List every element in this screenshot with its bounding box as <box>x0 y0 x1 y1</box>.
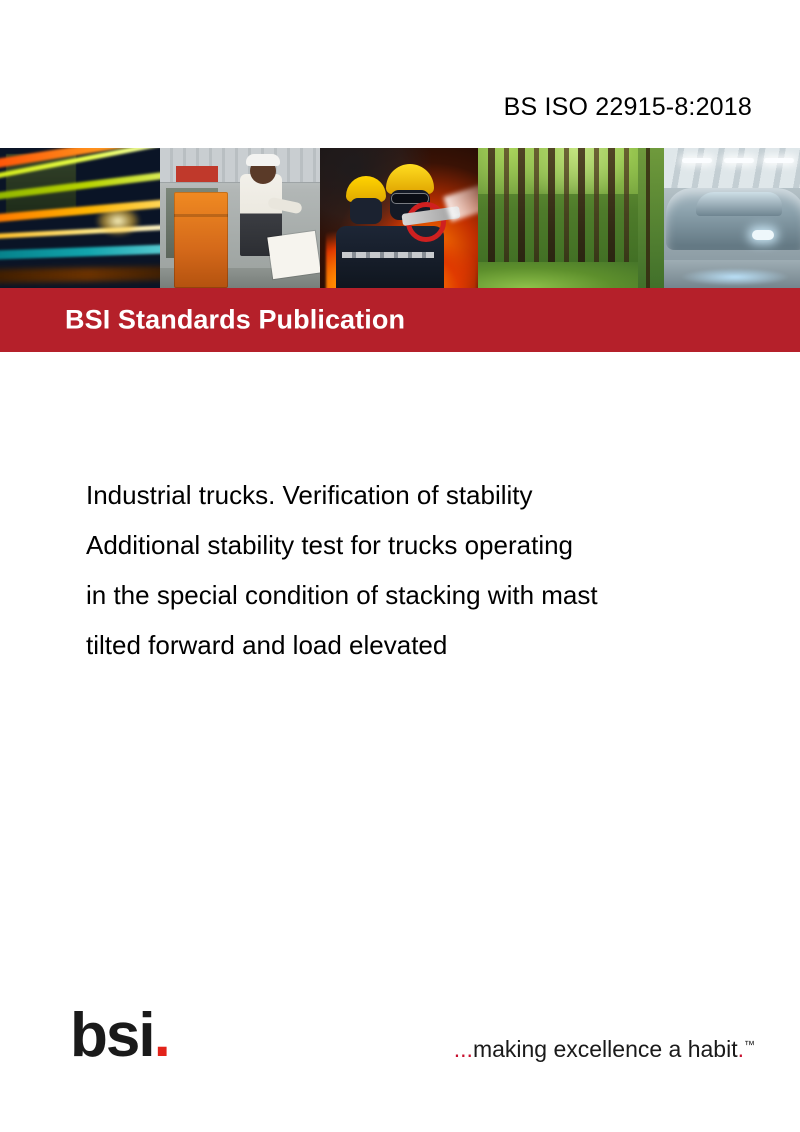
tree-trunk <box>624 148 629 270</box>
title-line: Additional stability test for trucks ope… <box>86 520 746 570</box>
publication-banner-label: BSI Standards Publication <box>65 305 405 336</box>
ceiling-lamp <box>682 158 712 163</box>
red-box-shape <box>176 166 218 182</box>
light-trail <box>0 243 160 261</box>
reflective-stripe <box>342 252 434 258</box>
car-headlamp <box>752 230 774 240</box>
bsi-tagline: ...making excellence a habit.™ <box>454 1036 755 1063</box>
cover-photo-strip <box>0 148 800 288</box>
title-line: Industrial trucks. Verification of stabi… <box>86 470 746 520</box>
ceiling-lamp <box>764 158 794 163</box>
ceiling-lamp <box>724 158 754 163</box>
bsi-logo: bsi. <box>70 1005 169 1067</box>
light-trail <box>0 265 160 284</box>
worker-cap <box>246 154 280 166</box>
document-cover-page: BS ISO 22915-8:2018 <box>0 0 800 1132</box>
page-title: Industrial trucks. Verification of stabi… <box>86 470 746 670</box>
title-line: tilted forward and load elevated <box>86 620 746 670</box>
tagline-ellipsis: ... <box>454 1036 473 1062</box>
headlight-glow <box>96 206 140 236</box>
car-windshield <box>696 192 782 216</box>
photo-panel-firefighters <box>320 148 478 288</box>
publication-banner: BSI Standards Publication <box>0 288 800 352</box>
water-jet <box>443 180 478 221</box>
orange-crate-shape <box>174 192 228 288</box>
title-line: in the special condition of stacking wit… <box>86 570 746 620</box>
factory-roof <box>664 148 800 188</box>
forest-undergrowth <box>478 262 638 288</box>
firefighter-face <box>350 198 382 224</box>
floor-light-reflection <box>680 268 790 286</box>
tree-trunk <box>504 148 509 270</box>
tree-trunk <box>534 148 539 270</box>
photo-panel-car-assembly-line <box>638 148 800 288</box>
photo-panel-night-light-trails <box>0 148 160 288</box>
bsi-logo-text: bsi <box>70 1001 154 1070</box>
tree-trunk <box>594 148 599 270</box>
bsi-logo-dot: . <box>154 1001 169 1070</box>
photo-panel-warehouse-worker <box>160 148 320 288</box>
tree-trunk <box>564 148 569 270</box>
photo-panel-forest <box>478 148 638 288</box>
paper-sheet <box>267 231 320 279</box>
background-trees <box>638 148 664 288</box>
standard-number: BS ISO 22915-8:2018 <box>504 93 752 122</box>
trademark-icon: ™ <box>744 1039 755 1051</box>
tagline-text: making excellence a habit <box>473 1036 738 1062</box>
